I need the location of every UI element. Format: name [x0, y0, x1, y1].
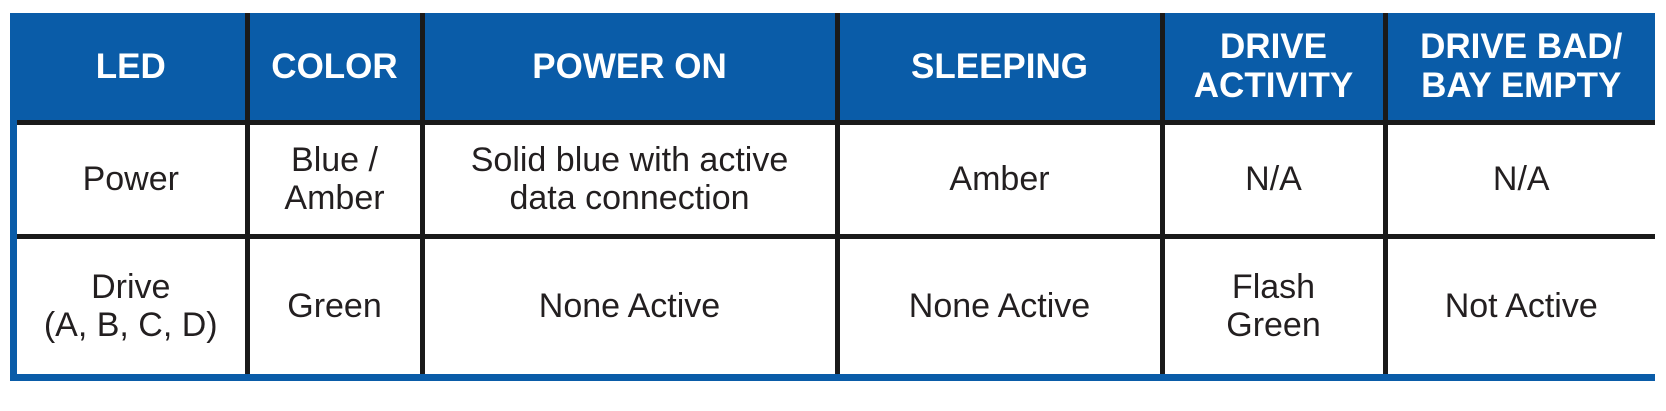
cell-drive-sleeping-line-1: None Active [846, 287, 1154, 325]
cell-power-color-line-2: Amber [256, 179, 414, 217]
column-header-drive-bad-bay-empty-line-2: BAY EMPTY [1394, 66, 1650, 105]
cell-power-power-on: Solid blue with active data connection [422, 122, 837, 236]
cell-power-color-line-1: Blue / [256, 141, 414, 179]
column-header-power-on-line-1: POWER ON [431, 47, 829, 86]
cell-power-drive-bad-bay-empty-line-1: N/A [1394, 160, 1650, 198]
cell-power-power-on-line-2: data connection [431, 179, 829, 217]
column-header-power-on: POWER ON [422, 13, 837, 122]
column-header-color: COLOR [247, 13, 422, 122]
cell-drive-power-on-line-1: None Active [431, 287, 829, 325]
column-header-led: LED [17, 13, 247, 122]
column-header-drive-bad-bay-empty: DRIVE BAD/ BAY EMPTY [1385, 13, 1655, 122]
cell-power-drive-activity-line-1: N/A [1171, 160, 1377, 198]
cell-power-sleeping-line-1: Amber [846, 160, 1154, 198]
cell-power-led-line-1: Power [23, 160, 239, 198]
page-root: LED COLOR POWER ON SLEEPING DRIVE ACTIVI… [0, 0, 1666, 411]
column-header-drive-activity-line-1: DRIVE [1171, 27, 1377, 66]
column-header-color-line-1: COLOR [256, 47, 414, 86]
table-header: LED COLOR POWER ON SLEEPING DRIVE ACTIVI… [17, 13, 1655, 122]
column-header-drive-activity-line-2: ACTIVITY [1171, 66, 1377, 105]
column-header-sleeping: SLEEPING [837, 13, 1162, 122]
cell-drive-drive-bad-bay-empty: Not Active [1385, 236, 1655, 374]
cell-power-drive-activity: N/A [1162, 122, 1385, 236]
cell-drive-drive-activity-line-1: Flash [1171, 268, 1377, 306]
table-body: Power Blue / Amber Solid blue with activ… [17, 122, 1655, 374]
cell-power-power-on-line-1: Solid blue with active [431, 141, 829, 179]
column-header-sleeping-line-1: SLEEPING [846, 47, 1154, 86]
column-header-drive-activity: DRIVE ACTIVITY [1162, 13, 1385, 122]
cell-drive-color-line-1: Green [256, 287, 414, 325]
cell-power-led: Power [17, 122, 247, 236]
cell-drive-color: Green [247, 236, 422, 374]
cell-power-drive-bad-bay-empty: N/A [1385, 122, 1655, 236]
led-status-table: LED COLOR POWER ON SLEEPING DRIVE ACTIVI… [17, 13, 1655, 374]
led-status-table-frame: LED COLOR POWER ON SLEEPING DRIVE ACTIVI… [10, 13, 1655, 381]
cell-drive-drive-bad-bay-empty-line-1: Not Active [1394, 287, 1650, 325]
cell-drive-drive-activity: Flash Green [1162, 236, 1385, 374]
cell-power-sleeping: Amber [837, 122, 1162, 236]
cell-drive-power-on: None Active [422, 236, 837, 374]
cell-drive-led-line-2: (A, B, C, D) [23, 306, 239, 344]
cell-drive-sleeping: None Active [837, 236, 1162, 374]
cell-drive-led: Drive (A, B, C, D) [17, 236, 247, 374]
table-header-row: LED COLOR POWER ON SLEEPING DRIVE ACTIVI… [17, 13, 1655, 122]
table-row-power: Power Blue / Amber Solid blue with activ… [17, 122, 1655, 236]
cell-drive-led-line-1: Drive [23, 268, 239, 306]
cell-power-color: Blue / Amber [247, 122, 422, 236]
cell-drive-drive-activity-line-2: Green [1171, 306, 1377, 344]
column-header-led-line-1: LED [23, 47, 239, 86]
table-row-drive: Drive (A, B, C, D) Green None Active Non… [17, 236, 1655, 374]
column-header-drive-bad-bay-empty-line-1: DRIVE BAD/ [1394, 27, 1650, 66]
